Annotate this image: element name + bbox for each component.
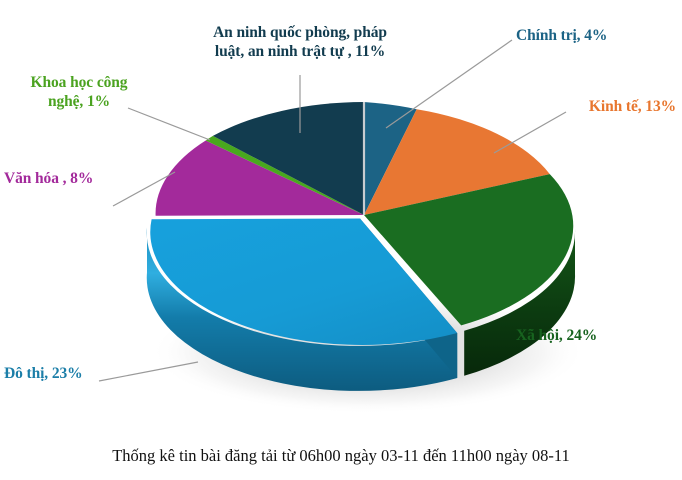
slice-label-an-ninh-quoc-phong: An ninh quốc phòng, pháp luật, an ninh t… — [176, 24, 424, 62]
chart-canvas: An ninh quốc phòng, pháp luật, an ninh t… — [0, 0, 682, 480]
slice-label-kinh-te: Kinh tế, 13% — [506, 98, 676, 117]
slice-label-chinh-tri: Chính trị, 4% — [516, 27, 676, 46]
slice-label-xa-hoi: Xã hội, 24% — [516, 327, 678, 346]
slice-label-van-hoa: Văn hóa , 8% — [4, 170, 154, 189]
chart-caption: Thống kê tin bài đăng tải từ 06h00 ngày … — [0, 446, 682, 466]
slice-label-do-thi: Đô thị, 23% — [4, 365, 154, 384]
leader-line-kinh-te — [494, 112, 566, 153]
pie-chart-graphic — [0, 0, 682, 480]
leader-line-khoa-hoc — [128, 108, 210, 140]
slice-label-khoa-hoc-cong-nghe: Khoa học công nghệ, 1% — [4, 74, 154, 112]
